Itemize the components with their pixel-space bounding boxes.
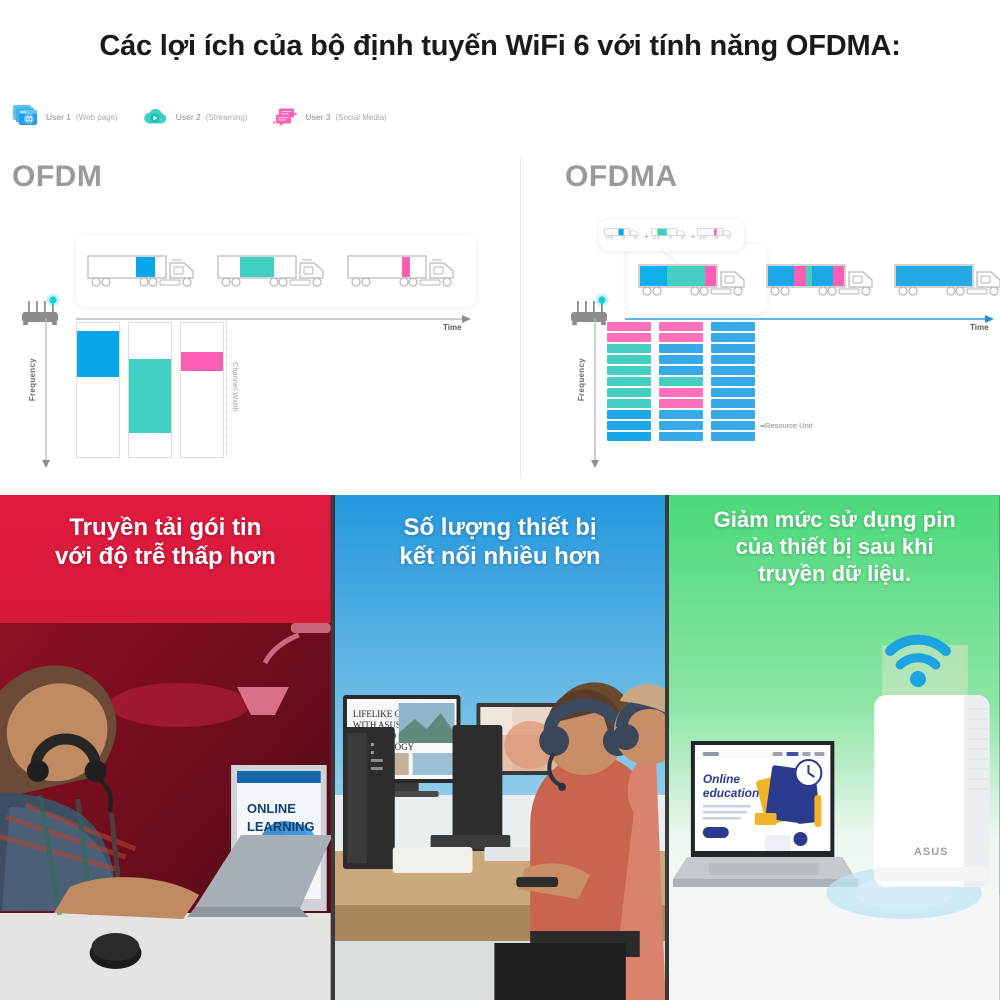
channel-width-marker [226, 322, 227, 458]
benefit-caption-3: Giảm mức sử dụng pin của thiết bị sau kh… [669, 495, 1000, 601]
resource-unit-cell [711, 432, 755, 441]
resource-unit-cell [607, 432, 651, 441]
resource-unit-cell [607, 322, 651, 331]
ofdm-panel: OFDM [0, 140, 520, 495]
legend-user-label: User 2 [176, 112, 201, 122]
svg-text:ASUS: ASUS [914, 846, 948, 858]
resource-unit-cell [659, 399, 703, 408]
ofdma-time-label: Time [970, 323, 989, 332]
legend-user-label: User 1 [46, 112, 71, 122]
resource-unit-bracket [755, 417, 765, 435]
ofdm-frequency-label: Frequency [28, 358, 37, 401]
infographic-page: Các lợi ích của bộ định tuyến WiFi 6 với… [0, 0, 1000, 1000]
resource-unit-cell [607, 399, 651, 408]
resource-unit-cell [711, 366, 755, 375]
ofdm-frequency-axis [40, 318, 52, 470]
resource-unit-cell [659, 366, 703, 375]
legend-kind-label: (Web page) [76, 113, 118, 122]
resource-unit-cell [711, 333, 755, 342]
chat-bubbles-icon [270, 102, 300, 132]
resource-unit-cell [711, 388, 755, 397]
svg-text:education: education [703, 786, 759, 800]
resource-unit-cell [659, 377, 703, 386]
svg-text:LEARNING: LEARNING [247, 819, 315, 834]
benefit-caption-1-line1: Truyền tải gói tin [10, 513, 321, 542]
resource-unit-cell [607, 333, 651, 342]
legend-item-user1: User 1 (Web page) [10, 102, 118, 132]
resource-unit-cell [659, 355, 703, 364]
resource-unit-cell [607, 344, 651, 353]
resource-unit-column-1 [607, 322, 651, 441]
ofdma-truck-3 [893, 260, 1000, 307]
ofdma-frequency-axis [589, 318, 601, 470]
resource-unit-cell [711, 377, 755, 386]
svg-text:ONLINE: ONLINE [247, 801, 296, 816]
resource-unit-column-2 [659, 322, 703, 441]
benefit-caption-1-line2: với độ trễ thấp hơn [10, 542, 321, 571]
benefit-panel-devices: LIFELIKE COLOR WITH ASUS SPLENDID TECHNO… [335, 495, 666, 1000]
browser-windows-icon [10, 102, 40, 132]
ofdma-tooltip-card: + + [599, 219, 744, 251]
benefit-caption-3-line2: của thiết bị sau khi [679, 534, 990, 561]
ofdm-truck-1 [86, 251, 206, 298]
ofdm-frequency-column-3 [180, 322, 224, 458]
benefit-caption-3-line3: truyền dữ liệu. [679, 561, 990, 588]
benefit-panel-latency: ONLINE LEARNING [0, 495, 331, 1000]
resource-unit-cell [659, 410, 703, 419]
resource-unit-cell [711, 399, 755, 408]
resource-unit-cell [659, 388, 703, 397]
resource-unit-label: Resource Unit [765, 421, 813, 430]
legend-kind-label: (Social Media) [336, 113, 387, 122]
ofdma-truck-2 [765, 260, 885, 307]
svg-text:Online: Online [703, 772, 741, 786]
cloud-play-icon [140, 102, 170, 132]
benefit-caption-3-line1: Giảm mức sử dụng pin [679, 507, 990, 534]
ofdma-panel: OFDMA [521, 140, 1000, 495]
resource-unit-cell [711, 421, 755, 430]
ofdm-truck-card [76, 235, 476, 307]
resource-unit-cell [659, 432, 703, 441]
ofdm-frequency-column-2 [128, 322, 172, 458]
ofdm-truck-3 [346, 251, 466, 298]
user-legend: User 1 (Web page) User 2 (Streaming) [10, 96, 510, 138]
resource-unit-cell [659, 421, 703, 430]
benefit-panel-battery: Online education [669, 495, 1000, 1000]
resource-unit-cell [711, 344, 755, 353]
resource-unit-cell [607, 388, 651, 397]
ofdma-heading: OFDMA [565, 160, 677, 194]
legend-item-user3: User 3 (Social Media) [270, 102, 387, 132]
resource-unit-cell [607, 366, 651, 375]
benefit-caption-1: Truyền tải gói tin với độ trễ thấp hơn [0, 495, 331, 586]
resource-unit-cell [607, 377, 651, 386]
resource-unit-cell [607, 421, 651, 430]
ofdma-tooltip-plus: + [644, 232, 649, 241]
ofdma-truck-1 [637, 260, 757, 307]
resource-unit-cell [711, 355, 755, 364]
benefit-panels: ONLINE LEARNING [0, 495, 1000, 1000]
legend-user-label: User 3 [306, 112, 331, 122]
benefit-caption-2: Số lượng thiết bị kết nối nhiều hơn [335, 495, 666, 586]
ofdm-frequency-column-1 [76, 322, 120, 458]
ofdma-tooltip-truck-2 [651, 224, 689, 249]
ofdma-tooltip-plus-2: + [691, 232, 696, 241]
resource-unit-cell [607, 410, 651, 419]
benefit-caption-2-line2: kết nối nhiều hơn [345, 542, 656, 571]
resource-unit-cell [607, 355, 651, 364]
resource-unit-cell [659, 322, 703, 331]
ofdma-tooltip-truck-1 [604, 224, 642, 249]
ofdm-vs-ofdma-diagram: OFDM [0, 140, 1000, 495]
resource-unit-cell [659, 344, 703, 353]
page-title-bar: Các lợi ích của bộ định tuyến WiFi 6 với… [0, 0, 1000, 92]
benefit-caption-2-line1: Số lượng thiết bị [345, 513, 656, 542]
ofdma-tooltip-truck-3 [697, 224, 735, 249]
resource-unit-cell [659, 333, 703, 342]
ofdm-time-label: Time [443, 323, 462, 332]
resource-unit-cell [711, 322, 755, 331]
page-title: Các lợi ích của bộ định tuyến WiFi 6 với… [99, 30, 900, 63]
resource-unit-column-3 [711, 322, 755, 441]
resource-unit-cell [711, 410, 755, 419]
ofdm-heading: OFDM [12, 160, 102, 194]
ofdma-frequency-label: Frequency [577, 358, 586, 401]
ofdm-truck-2 [216, 251, 336, 298]
legend-item-user2: User 2 (Streaming) [140, 102, 248, 132]
channel-width-label: Channel Width [231, 362, 238, 412]
legend-kind-label: (Streaming) [206, 113, 248, 122]
